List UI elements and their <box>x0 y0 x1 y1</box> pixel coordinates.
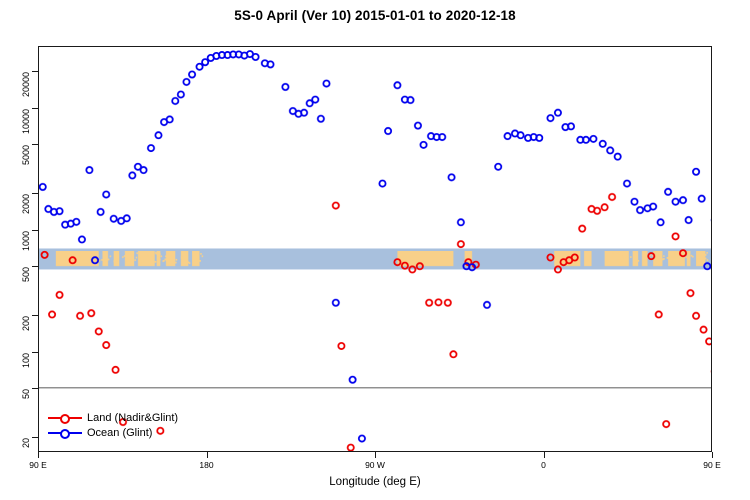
y-tick-mark <box>32 388 38 389</box>
x-tick-mark <box>712 452 713 458</box>
y-tick-mark <box>32 266 38 267</box>
chart-legend: Land (Nadir&Glint) Ocean (Glint) <box>48 410 178 440</box>
x-tick-mark <box>544 452 545 458</box>
x-tick-label: 180 <box>167 460 247 470</box>
x-tick-label: 90 W <box>335 460 415 470</box>
x-tick-label: 90 E <box>672 460 750 470</box>
legend-label-ocean: Ocean (Glint) <box>87 427 152 439</box>
y-tick-mark <box>32 352 38 353</box>
y-tick-mark <box>32 437 38 438</box>
x-tick-mark <box>375 452 376 458</box>
x-axis-title: Longitude (deg E) <box>0 476 750 488</box>
chart-figure: 5S-0 April (Ver 10) 2015-01-01 to 2020-1… <box>0 0 750 500</box>
y-tick-mark <box>32 193 38 194</box>
legend-item-land: Land (Nadir&Glint) <box>48 410 178 425</box>
plot-area <box>38 46 712 452</box>
y-tick-mark <box>32 315 38 316</box>
y-tick-mark <box>32 230 38 231</box>
legend-label-land: Land (Nadir&Glint) <box>87 412 178 424</box>
y-tick-mark <box>32 144 38 145</box>
x-tick-mark <box>207 452 208 458</box>
y-tick-mark <box>32 71 38 72</box>
legend-marker-land <box>48 411 82 425</box>
plot-canvas <box>39 47 711 451</box>
legend-marker-ocean <box>48 426 82 440</box>
x-tick-mark <box>38 452 39 458</box>
y-tick-mark <box>32 108 38 109</box>
x-tick-label: 0 <box>504 460 584 470</box>
legend-item-ocean: Ocean (Glint) <box>48 425 178 440</box>
chart-title: 5S-0 April (Ver 10) 2015-01-01 to 2020-1… <box>0 8 750 23</box>
x-tick-label: 90 E <box>0 460 78 470</box>
